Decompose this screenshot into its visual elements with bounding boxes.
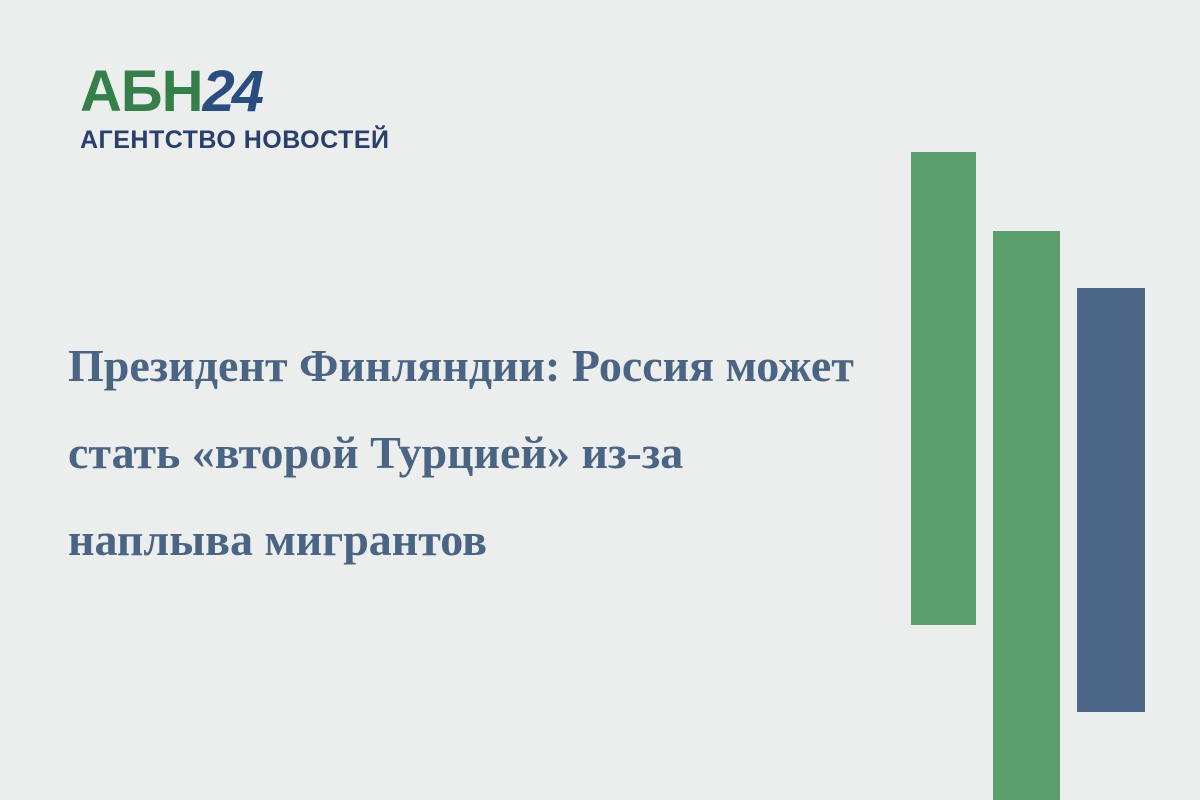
news-card: АБН24 АГЕНТСТВО НОВОСТЕЙ Президент Финля…	[0, 0, 1200, 800]
logo-wordmark-accent: 24	[202, 59, 261, 124]
abn24-logo[interactable]: АБН24 АГЕНТСТВО НОВОСТЕЙ	[80, 62, 380, 154]
chart-bar-3	[1077, 288, 1145, 712]
page-title: Президент Финляндии: Россия может стать …	[68, 322, 878, 583]
chart-bar-1	[911, 152, 976, 625]
logo-wordmark: АБН24	[80, 62, 380, 122]
logo-wordmark-primary: АБН	[80, 59, 202, 124]
chart-bar-2	[993, 231, 1060, 800]
logo-tagline: АГЕНТСТВО НОВОСТЕЙ	[80, 126, 380, 154]
